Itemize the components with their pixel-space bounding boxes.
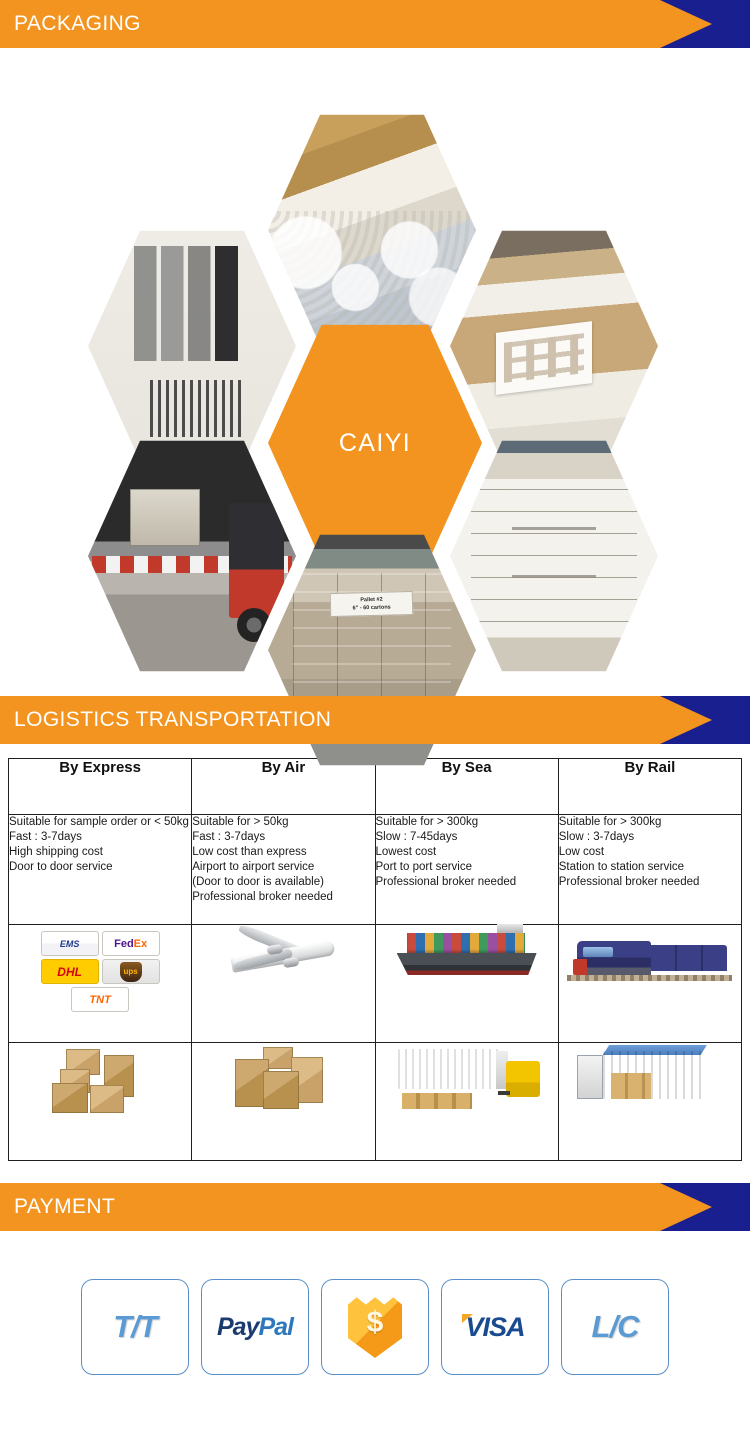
airplane-icon	[223, 925, 343, 981]
hex-tile-open-box-bubble-wrap	[268, 110, 476, 350]
detail-line: Professional broker needed	[559, 875, 741, 890]
payment-card-escrow[interactable]: $	[321, 1279, 429, 1375]
detail-line: Lowest cost	[376, 845, 558, 860]
carton-print-line	[512, 527, 595, 530]
logistics-section-banner: LOGISTICS TRANSPORTATION	[0, 696, 750, 744]
detail-line: (Door to door is available)	[192, 875, 374, 890]
detail-line: Suitable for sample order or < 50kg	[9, 815, 191, 830]
detail-line: Suitable for > 50kg	[192, 815, 374, 830]
payment-section-banner: PAYMENT	[0, 1183, 750, 1231]
cell-airplane	[192, 925, 375, 1043]
payment-card-lc[interactable]: L/C	[561, 1279, 669, 1375]
column-header-air: By Air	[192, 759, 375, 815]
details-rail: Suitable for > 300kg Slow : 3-7days Low …	[558, 815, 741, 925]
cell-blue-container	[558, 1043, 741, 1161]
hex-tile-carton-with-sheet	[450, 226, 658, 466]
details-express: Suitable for sample order or < 50kg Fast…	[9, 815, 192, 925]
column-header-rail: By Rail	[558, 759, 741, 815]
cell-courier-logos: EMS FedEx DHL ups TNT	[9, 925, 192, 1043]
tnt-icon: TNT	[71, 987, 129, 1012]
ups-icon: ups	[102, 959, 160, 984]
logistics-transportation-table: By Express By Air By Sea By Rail Suitabl…	[8, 758, 742, 1161]
hex-tile-brand-center: CAIYI	[268, 320, 482, 566]
hex-tile-product-panels: x8 x8 x8	[88, 226, 296, 466]
photo-stacked-white-cartons	[450, 436, 658, 676]
detail-line: Low cost	[559, 845, 741, 860]
freight-train-icon	[567, 925, 732, 985]
detail-line: Slow : 3-7days	[559, 830, 741, 845]
tt-icon: T/T	[113, 1309, 157, 1345]
instruction-sheet	[496, 321, 592, 395]
paypal-icon: PayPal	[217, 1313, 293, 1342]
photo-carton-with-sheet	[450, 226, 658, 466]
packaging-title: PACKAGING	[14, 0, 141, 48]
detail-line: Slow : 7-45days	[376, 830, 558, 845]
column-header-express: By Express	[9, 759, 192, 815]
logistics-title: LOGISTICS TRANSPORTATION	[14, 696, 331, 744]
detail-line: Door to door service	[9, 860, 191, 875]
courier-logo-group: EMS FedEx DHL ups TNT	[9, 925, 191, 1018]
details-air: Suitable for > 50kg Fast : 3-7days Low c…	[192, 815, 375, 925]
carton-boxes-icon	[46, 1043, 154, 1117]
table-details-row: Suitable for sample order or < 50kg Fast…	[9, 815, 742, 925]
packaging-section-banner: PACKAGING	[0, 0, 750, 48]
payment-card-visa[interactable]: VISA	[441, 1279, 549, 1375]
visa-icon: VISA	[465, 1312, 524, 1343]
fedex-icon: FedEx	[102, 931, 160, 956]
photo-product-panels: x8 x8 x8	[88, 226, 296, 466]
dhl-icon: DHL	[41, 959, 99, 984]
lc-icon: L/C	[592, 1309, 639, 1345]
blue-container-icon	[575, 1043, 725, 1121]
carton-print-line	[512, 575, 595, 578]
detail-line: Airport to airport service	[192, 860, 374, 875]
hex-tile-truck-loading	[88, 436, 296, 676]
escrow-icon: $	[348, 1296, 402, 1358]
forklift-body	[229, 503, 283, 618]
payment-card-tt[interactable]: T/T	[81, 1279, 189, 1375]
packaging-image-collage: x8 x8 x8 CAIYI	[0, 48, 750, 696]
forklift-wheel	[237, 608, 271, 642]
detail-line: Suitable for > 300kg	[376, 815, 558, 830]
table-header-row: By Express By Air By Sea By Rail	[9, 759, 742, 815]
cell-red-container-forklift	[375, 1043, 558, 1161]
logistics-table-wrapper: By Express By Air By Sea By Rail Suitabl…	[0, 744, 750, 1161]
cell-carton-boxes-air	[192, 1043, 375, 1161]
pallet-in-truck	[130, 489, 201, 547]
photo-open-box-bubble-wrap	[268, 110, 476, 350]
detail-line: High shipping cost	[9, 845, 191, 860]
cell-container-ship	[375, 925, 558, 1043]
detail-line: Port to port service	[376, 860, 558, 875]
brand-name-label: CAIYI	[339, 429, 411, 458]
hex-tile-stacked-cartons	[450, 436, 658, 676]
product-detail-page: PACKAGING x8 x8 x8	[0, 0, 750, 1433]
red-container-forklift-icon	[392, 1043, 542, 1115]
payment-title: PAYMENT	[14, 1183, 115, 1231]
detail-line: Fast : 3-7days	[192, 830, 374, 845]
detail-line: Professional broker needed	[192, 890, 374, 905]
cell-freight-train	[558, 925, 741, 1043]
carton-boxes-icon	[229, 1043, 337, 1117]
detail-line: Suitable for > 300kg	[559, 815, 741, 830]
detail-line: Station to station service	[559, 860, 741, 875]
ems-icon: EMS	[41, 931, 99, 956]
details-sea: Suitable for > 300kg Slow : 7-45days Low…	[375, 815, 558, 925]
detail-line: Low cost than express	[192, 845, 374, 860]
column-header-sea: By Sea	[375, 759, 558, 815]
container-ship-icon	[397, 925, 537, 975]
cell-carton-boxes-express	[9, 1043, 192, 1161]
screw-rows	[150, 380, 246, 438]
table-secondary-icon-row	[9, 1043, 742, 1161]
pallet-shipping-label: Pallet #2 6" - 60 cartons	[330, 591, 414, 617]
photo-truck-loading-forklift	[88, 436, 296, 676]
payment-card-paypal[interactable]: PayPal	[201, 1279, 309, 1375]
detail-line: Fast : 3-7days	[9, 830, 191, 845]
table-primary-icon-row: EMS FedEx DHL ups TNT	[9, 925, 742, 1043]
payment-methods-row: T/T PayPal $ VISA L/C	[0, 1231, 750, 1375]
detail-line: Professional broker needed	[376, 875, 558, 890]
